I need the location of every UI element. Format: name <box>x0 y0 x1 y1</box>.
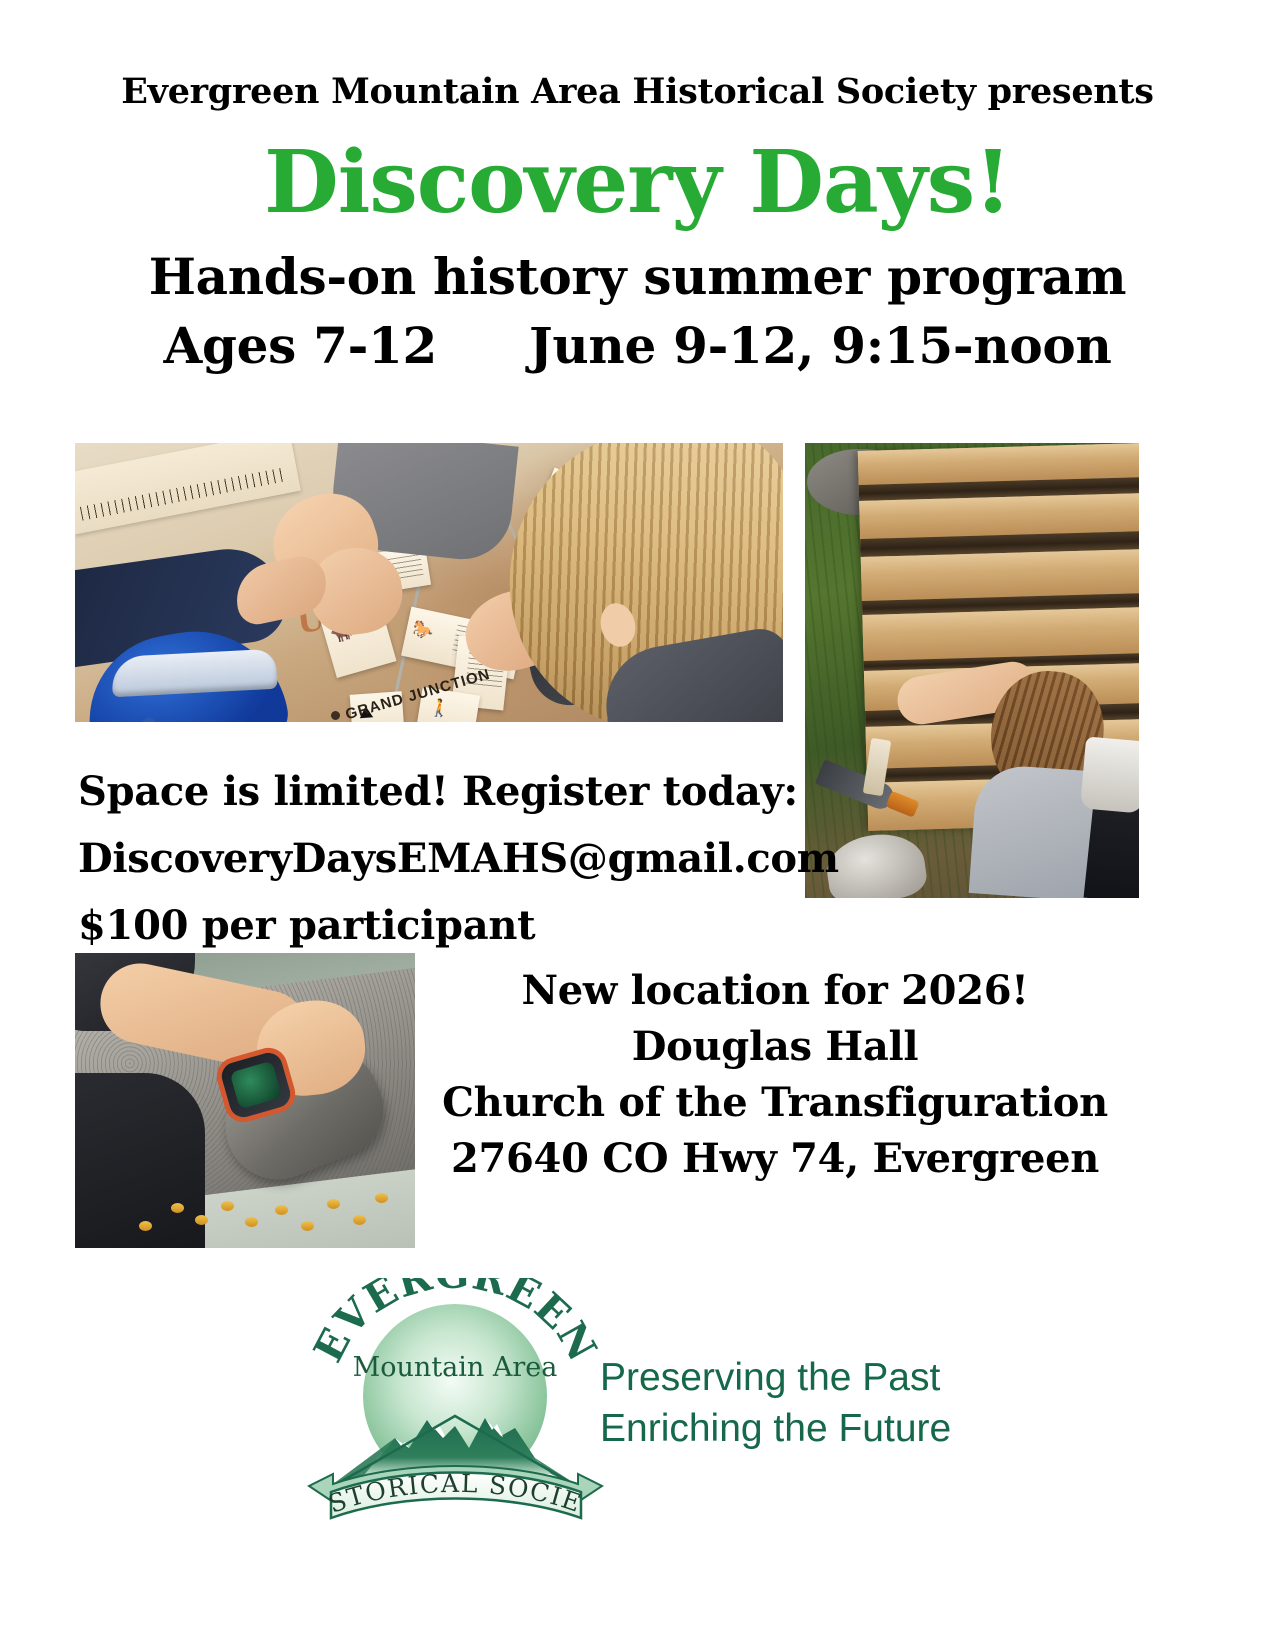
person-glyph-icon: 🚶 <box>428 698 452 718</box>
ages-and-dates-line: Ages 7-12June 9-12, 9:15-noon <box>0 317 1275 375</box>
tagline-line-2: Enriching the Future <box>600 1403 1030 1454</box>
cap-brim <box>111 649 278 698</box>
photo-child-grinding-corn-metate <box>75 953 415 1248</box>
registration-call-to-action: Space is limited! Register today: <box>78 758 798 825</box>
map-city-dot <box>331 711 340 720</box>
organization-tagline: Preserving the Past Enriching the Future <box>600 1352 1030 1454</box>
photo-child-chinking-log-cabin <box>805 443 1139 898</box>
corn-kernel <box>375 1193 388 1203</box>
cap-button <box>141 716 157 722</box>
location-building: Church of the Transfiguration <box>435 1075 1115 1131</box>
corn-kernel <box>275 1205 288 1215</box>
registration-block: Space is limited! Register today: Discov… <box>78 758 798 959</box>
tagline-line-1: Preserving the Past <box>600 1352 1030 1403</box>
corn-kernel <box>245 1217 258 1227</box>
corn-kernel <box>353 1215 366 1225</box>
emahs-logo: EVERGREEN Mountain Area HISTORICAL SOCIE… <box>303 1278 608 1528</box>
supply-bucket <box>1080 736 1139 813</box>
corn-kernel <box>195 1215 208 1225</box>
logo-svg: EVERGREEN Mountain Area HISTORICAL SOCIE… <box>303 1278 608 1528</box>
registration-email[interactable]: DiscoveryDaysEMAHS@gmail.com <box>78 825 798 892</box>
corn-kernel <box>301 1221 314 1231</box>
location-venue: Douglas Hall <box>435 1019 1115 1075</box>
corn-kernel <box>327 1199 340 1209</box>
dates-text: June 9-12, 9:15-noon <box>529 316 1112 375</box>
cabin-log <box>861 549 1139 601</box>
program-subtitle: Hands-on history summer program <box>0 248 1275 306</box>
location-address: 27640 CO Hwy 74, Evergreen <box>435 1131 1115 1187</box>
watch-face <box>230 1061 283 1110</box>
logo-middle-text: Mountain Area <box>353 1352 558 1383</box>
location-block: New location for 2026! Douglas Hall Chur… <box>435 963 1115 1187</box>
registration-price: $100 per participant <box>78 892 798 959</box>
corn-kernel <box>139 1221 152 1231</box>
event-title: Discovery Days! <box>0 133 1275 233</box>
horse-glyph-icon: 🐎 <box>411 620 435 641</box>
location-headline: New location for 2026! <box>435 963 1115 1019</box>
photo-children-studying-colorado-map: Ute Apache 🚗 🐂 🐴 🐎 ⛰ 🚶 🚗 <box>75 443 783 722</box>
flyer-page: Evergreen Mountain Area Historical Socie… <box>0 0 1275 1650</box>
corn-kernel <box>171 1203 184 1213</box>
cabin-log <box>862 607 1139 661</box>
ages-text: Ages 7-12 <box>163 316 437 375</box>
corn-kernel <box>221 1201 234 1211</box>
presenter-line: Evergreen Mountain Area Historical Socie… <box>0 70 1275 114</box>
